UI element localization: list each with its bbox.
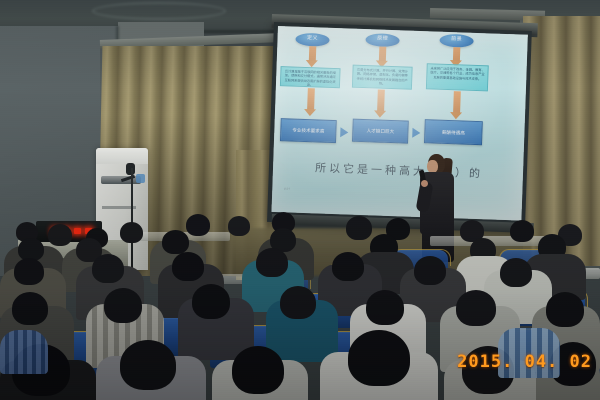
slide-caption: 所以它是一种高大（上）的 [281,158,517,182]
arrow-head-icon [304,109,316,116]
audience-head [14,258,44,285]
chevron-right-icon [340,127,348,137]
arrow-down-icon [307,88,315,110]
audience-head [120,222,143,243]
audience-head [172,252,204,281]
slide-oval-1: 定义 [295,33,329,47]
arrow-down-icon [453,91,461,113]
audience-head [192,284,230,319]
arrow-head-icon [450,112,462,119]
slide-blue-box-1: 专业技术要求高 [280,118,337,143]
arrow-down-icon [377,90,385,112]
projected-slide: 定义 原理 前景 云计算是基于互联网的相关服务的增加、使用和交付模式，通常涉及通… [272,26,528,221]
audience-head [546,292,584,327]
audience-torso [0,330,48,374]
audience-head [456,290,496,326]
slide-footer: ppt [284,186,290,190]
lecture-hall-photo: 定义 原理 前景 云计算是基于互联网的相关服务的增加、使用和交付模式，通常涉及通… [0,0,600,400]
audience-head [346,216,372,240]
slide-blue-box-2: 人才缺口巨大 [352,119,409,144]
arrow-head-icon [374,110,386,117]
audience-head [120,340,176,390]
audience-head [366,290,404,325]
audience-head [500,258,532,287]
slide-oval-3: 前景 [439,34,473,48]
slide-cyan-box-3: 未来将广泛应用于政务、金融、教育、医疗、交通等各个行业，成为信息产业发展的重要基… [426,63,489,91]
presenter-hand [421,180,428,187]
audience-head [414,256,446,285]
audience-head [348,330,410,386]
slide-cyan-box-2: 它是分布式计算、并行计算、效用计算、网络存储、虚拟化、负载均衡等传统计算机和网络… [352,65,413,90]
audience-head [104,288,142,323]
audience-head [162,230,189,254]
air-conditioner-badge-icon [136,174,145,183]
slide-oval-2: 原理 [365,33,399,47]
audience-head [280,286,316,319]
air-conditioner-top [96,148,148,164]
slide-cyan-box-1: 云计算是基于互联网的相关服务的增加、使用和交付模式，通常涉及通过互联网来提供动态… [280,66,341,88]
slide-blue-box-3: 薪酬待遇高 [424,119,483,145]
audience-head [256,248,288,277]
audience-head [510,220,534,242]
date-stamp: 2015. 04. 02 [457,352,592,372]
audience-head [48,224,72,246]
audience-head [12,292,48,325]
ceiling-light-ring [92,2,226,20]
chevron-right-icon [412,128,420,138]
audience-head [232,346,284,394]
arrow-down-icon [309,46,317,61]
audience-head [92,254,124,283]
audience-head [186,214,210,236]
audience-head [332,252,364,281]
arrow-down-icon [379,47,387,62]
audience-head [228,216,250,236]
